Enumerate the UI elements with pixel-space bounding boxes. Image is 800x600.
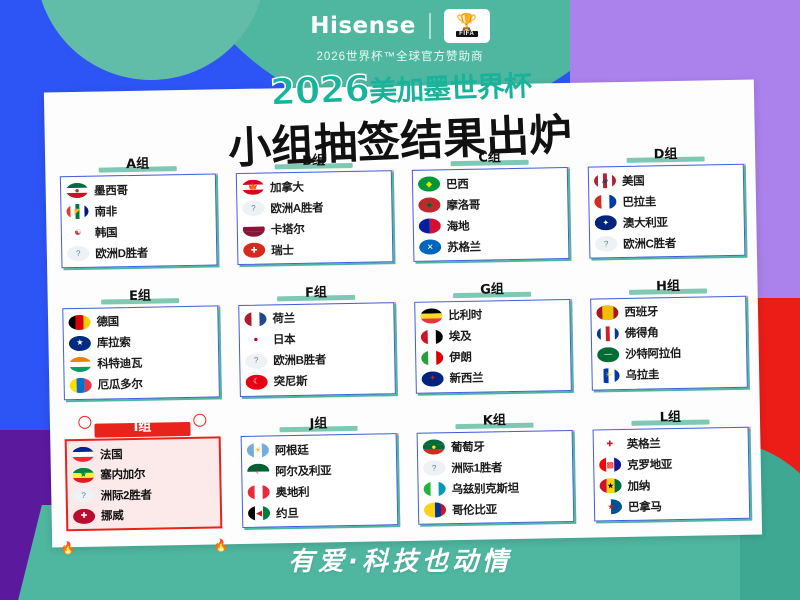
argentina-flag-icon: ☀ [247,443,269,458]
team-name: 西班牙 [624,304,658,321]
scotland-flag-icon: ✕ [419,239,441,254]
vertical-divider-icon [429,13,431,39]
team-name: 葡萄牙 [451,438,485,455]
group-label: H组 [656,279,680,294]
team-name: 荷兰 [272,310,295,326]
team-name: 卡塔尔 [271,220,305,237]
team-name: 奥地利 [276,484,310,501]
ivory-coast-flag-icon [69,356,91,371]
team-row[interactable]: ✚ 瑞士 [243,238,387,260]
team-row[interactable]: 西班牙 [596,301,740,323]
team-row[interactable]: 海地 [419,214,563,236]
japan-flag-icon: ● [245,332,267,347]
group-card-a[interactable]: A组 ● 墨西哥 ◤ 南非 ☯ 韩国 ? 欧洲D胜者 [51,151,225,286]
team-row[interactable]: ★ 塞内加尔 [72,463,214,485]
team-name: 欧洲B胜者 [273,352,326,369]
new-zealand-flag-icon: ✦ [421,371,443,386]
jordan-flag-icon: ◀ [248,506,270,521]
group-team-list: 法国 ★ 塞内加尔 ? 洲际2胜者 ✚ 挪威 🔥 🔥 [65,437,223,532]
group-title-d: D组 [587,142,743,165]
team-name: 塞内加尔 [100,466,145,483]
team-name: 海地 [447,217,470,233]
group-label: C组 [478,150,501,165]
team-name: 洲际2胜者 [101,486,152,503]
switzerland-flag-icon: ✚ [243,243,265,258]
team-name: 加拿大 [270,178,304,195]
team-name: 新西兰 [449,370,483,387]
team-name: 比利时 [448,307,482,324]
paraguay-flag-icon [594,194,616,209]
group-team-list: ☀ 阿根廷 ☾ 阿尔及利亚 奥地利 ◀ 约旦 [241,433,399,528]
team-row[interactable]: ◤ 南非 [66,200,210,222]
france-flag-icon [72,447,94,462]
team-row[interactable]: ? 欧洲C胜者 [595,232,739,254]
unknown-qualifier-icon: ? [67,246,89,261]
sponsor-subtitle: 2026世界杯™全球官方赞助商 [0,48,800,64]
group-card-l[interactable]: L组 ✚ 英格兰 ▩ 克罗地亚 ★ 加纳 ★ 巴拿马 [584,405,758,540]
group-title-h: H组 [590,273,746,296]
team-row[interactable]: 奥地利 [247,481,391,503]
team-row[interactable]: ? 欧洲A胜者 [242,196,386,218]
group-label: I组 [133,420,151,435]
group-team-list: ✚ 英格兰 ▩ 克罗地亚 ★ 加纳 ★ 巴拿马 [593,427,751,522]
group-team-list: 德国 ★ 库拉索 科特迪瓦 厄瓜多尔 [62,305,220,400]
team-row[interactable]: ☀ 阿根廷 [247,439,391,461]
team-row[interactable]: ✚ 英格兰 [599,432,743,454]
team-row[interactable]: 埃及 [421,325,565,347]
algeria-flag-icon: ☾ [247,464,269,479]
group-label: J组 [309,417,327,432]
team-name: 佛得角 [625,325,659,342]
senegal-flag-icon: ★ [72,467,94,482]
team-name: 德国 [96,313,119,329]
uzbekistan-flag-icon [424,482,446,497]
team-row[interactable]: ★ 摩洛哥 [418,193,562,215]
group-card-d[interactable]: D组 ▰ 美国 巴拉圭 ✦ 澳大利亚 ? 欧洲C胜者 [579,142,753,277]
face-emoji-icon-right: •• [193,414,206,427]
team-name: 厄瓜多尔 [98,376,143,393]
group-label: L组 [660,410,682,425]
team-name: 苏格兰 [447,238,481,255]
team-name: 法国 [100,446,123,462]
team-row[interactable]: ? 欧洲D胜者 [67,242,211,264]
team-name: 哥伦比亚 [452,501,497,518]
hisense-logo: Hisense [310,13,416,39]
group-label: B组 [302,153,325,168]
group-card-e[interactable]: E组 德国 ★ 库拉索 科特迪瓦 厄瓜多尔 [54,283,228,418]
unknown-qualifier-icon: ? [595,236,617,251]
group-label: F组 [305,285,327,300]
groups-grid: A组 ● 墨西哥 ◤ 南非 ☯ 韩国 ? 欧洲D胜者 B组 🍁 加拿大 [51,142,758,550]
group-team-list: 西班牙 佛得角 — 沙特阿拉伯 ☀ 乌拉圭 [590,295,748,390]
team-row[interactable]: 乌兹别克斯坦 [423,477,567,499]
team-row[interactable]: ● 墨西哥 [66,179,210,201]
fifa-world-cup-trophy-icon: 🏆 FIFA [444,9,490,43]
colombia-flag-icon [424,503,446,518]
team-name: 洲际1胜者 [451,459,502,476]
header: Hisense 🏆 FIFA 2026世界杯™全球官方赞助商 [0,8,800,64]
team-row[interactable]: ★ 巴拿马 [600,495,744,517]
unknown-qualifier-icon: ? [73,488,95,503]
south-africa-flag-icon: ◤ [66,204,88,219]
group-card-c[interactable]: C组 ◆ 巴西 ★ 摩洛哥 海地 ✕ 苏格兰 [403,145,577,280]
group-title-g: G组 [414,277,570,300]
team-row[interactable]: ☯ 韩国 [67,221,211,243]
group-title-f: F组 [238,280,394,303]
morocco-flag-icon: ★ [418,197,440,212]
group-title-j: J组 [240,412,396,435]
team-row[interactable]: 🍁 加拿大 [242,175,386,197]
team-name: 墨西哥 [94,182,128,199]
team-name: 英格兰 [627,435,661,452]
team-row[interactable]: ● 日本 [245,328,389,350]
norway-flag-icon: ✚ [73,508,95,523]
team-row[interactable]: ☾ 突尼斯 [245,370,389,392]
team-name: 突尼斯 [273,373,307,390]
team-row[interactable]: — 沙特阿拉伯 [597,342,741,364]
team-name: 沙特阿拉伯 [625,345,681,362]
team-name: 巴拿马 [628,498,662,515]
group-team-list: 比利时 埃及 伊朗 ✦ 新西兰 [414,299,572,394]
team-row[interactable]: ✕ 苏格兰 [419,235,563,257]
group-card-b[interactable]: B组 🍁 加拿大 ? 欧洲A胜者 卡塔尔 ✚ 瑞士 [227,148,401,283]
team-row[interactable]: ◆ 巴西 [418,172,562,194]
team-row[interactable]: ● 葡萄牙 [423,435,567,457]
team-name: 科特迪瓦 [97,355,142,372]
team-row[interactable]: 哥伦比亚 [424,498,568,520]
group-label: D组 [654,147,678,162]
team-name: 美国 [622,172,645,188]
team-row[interactable]: ◀ 约旦 [248,502,392,524]
team-name: 巴拉圭 [622,193,656,210]
footer-slogan: 有爱·科技也动情 [0,541,800,578]
brand-row: Hisense 🏆 FIFA [0,8,800,44]
team-name: 挪威 [101,507,124,523]
mexico-flag-icon: ● [66,183,88,198]
panama-flag-icon: ★ [600,499,622,514]
team-row[interactable]: 卡塔尔 [243,217,387,239]
team-name: 南非 [94,203,117,219]
group-team-list: 荷兰 ● 日本 ? 欧洲B胜者 ☾ 突尼斯 [238,302,396,397]
group-card-h[interactable]: H组 西班牙 佛得角 — 沙特阿拉伯 ☀ 乌拉圭 [582,273,756,408]
team-name: 伊朗 [449,349,472,365]
group-team-list: ▰ 美国 巴拉圭 ✦ 澳大利亚 ? 欧洲C胜者 [588,164,746,259]
footer: 有爱·科技也动情 [0,541,800,578]
tunisia-flag-icon: ☾ [246,374,268,389]
saudi-arabia-flag-icon: — [597,347,619,362]
team-row[interactable]: ? 欧洲B胜者 [245,349,389,371]
germany-flag-icon [68,314,90,329]
team-row[interactable]: 荷兰 [244,307,388,329]
team-row[interactable]: 比利时 [420,304,564,326]
team-row[interactable]: 厄瓜多尔 [69,373,213,395]
austria-flag-icon [248,485,270,500]
group-team-list: ● 葡萄牙 ? 洲际1胜者 乌兹别克斯坦 哥伦比亚 [417,430,575,525]
team-name: 库拉索 [97,334,131,351]
croatia-flag-icon: ▩ [599,457,621,472]
group-card-k[interactable]: K组 ● 葡萄牙 ? 洲际1胜者 乌兹别克斯坦 哥伦比亚 [408,408,582,543]
australia-flag-icon: ✦ [595,215,617,230]
group-team-list: ● 墨西哥 ◤ 南非 ☯ 韩国 ? 欧洲D胜者 [60,173,218,268]
unknown-qualifier-icon: ? [423,461,445,476]
ecuador-flag-icon [70,377,92,392]
portugal-flag-icon: ● [423,440,445,455]
team-name: 阿尔及利亚 [275,462,331,479]
team-row[interactable]: ? 洲际2胜者 [73,484,215,506]
group-team-list: ◆ 巴西 ★ 摩洛哥 海地 ✕ 苏格兰 [412,167,570,262]
team-row[interactable]: ☾ 阿尔及利亚 [247,460,391,482]
trophy-glyph: 🏆 [456,15,477,31]
face-emoji-icon-left: •• [78,416,91,429]
group-title-k: K组 [416,408,572,431]
team-row[interactable]: 德国 [68,310,212,332]
uruguay-flag-icon: ☀ [597,368,619,383]
netherlands-flag-icon [244,311,266,326]
group-title-b: B组 [235,148,391,171]
team-row[interactable]: 佛得角 [597,322,741,344]
group-team-list: 🍁 加拿大 ? 欧洲A胜者 卡塔尔 ✚ 瑞士 [236,170,394,265]
team-row[interactable]: ? 洲际1胜者 [423,456,567,478]
group-title-a: A组 [59,151,215,174]
unknown-qualifier-icon: ? [245,353,267,368]
team-name: 瑞士 [271,242,294,258]
group-card-g[interactable]: G组 比利时 埃及 伊朗 ✦ 新西兰 [406,276,580,411]
team-name: 加纳 [627,477,650,493]
team-name: 阿根廷 [275,442,309,459]
group-label: G组 [480,282,504,297]
team-row[interactable]: ☀ 乌拉圭 [597,363,741,385]
cape-verde-flag-icon [597,326,619,341]
south-korea-flag-icon: ☯ [67,225,89,240]
brazil-flag-icon: ◆ [418,176,440,191]
spain-flag-icon [596,305,618,320]
team-name: 欧洲D胜者 [95,244,148,261]
team-row[interactable]: 科特迪瓦 [69,352,213,374]
group-label: K组 [483,413,506,428]
team-row[interactable]: ✦ 澳大利亚 [595,211,739,233]
qatar-flag-icon [243,222,265,237]
team-name: 约旦 [276,505,299,521]
group-label: A组 [126,157,149,172]
group-title-i: •• •• I组 [64,415,220,438]
haiti-flag-icon [419,218,441,233]
group-title-c: C组 [411,145,567,168]
group-title-e: E组 [62,283,218,306]
team-row[interactable]: ▰ 美国 [594,169,738,191]
canada-flag-icon: 🍁 [242,180,264,195]
team-name: 乌兹别克斯坦 [451,480,518,497]
team-row[interactable]: ✚ 挪威 [73,504,215,526]
curacao-flag-icon: ★ [69,335,91,350]
team-name: 韩国 [95,224,118,240]
team-name: 巴西 [446,175,469,191]
england-flag-icon: ✚ [599,436,621,451]
group-label: E组 [129,288,151,303]
team-row[interactable]: ▩ 克罗地亚 [599,453,743,475]
team-row[interactable]: ✦ 新西兰 [421,367,565,389]
team-row[interactable]: 巴拉圭 [594,190,738,212]
team-name: 欧洲A胜者 [270,199,323,216]
group-card-j[interactable]: J组 ☀ 阿根廷 ☾ 阿尔及利亚 奥地利 ◀ 约旦 [232,411,406,546]
team-name: 乌拉圭 [625,367,659,384]
team-name: 欧洲C胜者 [623,235,676,252]
belgium-flag-icon [420,308,442,323]
iran-flag-icon [421,350,443,365]
team-row[interactable]: 伊朗 [421,346,565,368]
team-name: 摩洛哥 [446,196,480,213]
team-name: 澳大利亚 [623,214,668,231]
team-row[interactable]: ★ 加纳 [599,474,743,496]
ghana-flag-icon: ★ [599,478,621,493]
group-title-l: L组 [592,405,748,428]
egypt-flag-icon [421,329,443,344]
team-name: 埃及 [449,328,472,344]
usa-flag-icon: ▰ [594,173,616,188]
title-year: 2026 [269,67,370,114]
group-card-i[interactable]: •• •• I组 法国 ★ 塞内加尔 ? 洲际2胜者 ✚ 挪威 🔥 🔥 [56,415,230,550]
unknown-qualifier-icon: ? [242,201,264,216]
team-name: 克罗地亚 [627,456,672,473]
group-card-f[interactable]: F组 荷兰 ● 日本 ? 欧洲B胜者 ☾ 突尼斯 [230,280,404,415]
team-name: 日本 [273,331,296,347]
team-row[interactable]: ★ 库拉索 [69,331,213,353]
fifa-label: FIFA [456,31,477,37]
team-row[interactable]: 法国 [72,443,214,465]
